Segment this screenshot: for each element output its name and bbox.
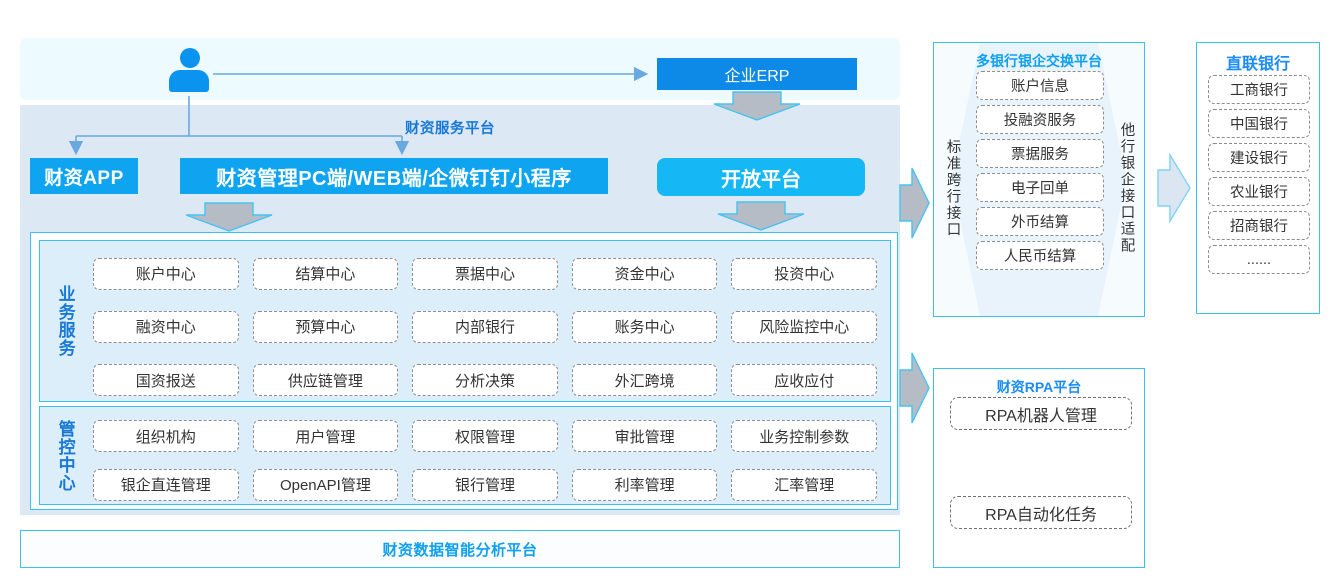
bank-chip[interactable]: 中国银行: [1208, 109, 1310, 138]
business-chip[interactable]: 资金中心: [572, 258, 718, 290]
management-center-grid: 组织机构 用户管理 权限管理 审批管理 业务控制参数 银企直连管理 OpenAP…: [86, 407, 884, 514]
right-arrow-icon-rpa: [900, 353, 929, 423]
business-chip[interactable]: 国资报送: [93, 364, 239, 396]
management-chip[interactable]: 用户管理: [253, 420, 399, 452]
bank-chip[interactable]: 农业银行: [1208, 177, 1310, 206]
exchange-platform-title: 多银行银企交换平台: [934, 51, 1144, 71]
business-services-grid: 账户中心 结算中心 票据中心 资金中心 投资中心 融资中心 预算中心 内部银行 …: [86, 241, 884, 413]
list-item[interactable]: 结算中心: [250, 247, 402, 300]
bank-exchange-platform-panel: 多银行银企交换平台 标准跨行接口 他行银企接口适配 账户信息 投融资服务 票据服…: [933, 42, 1145, 317]
direct-banks-list: 工商银行 中国银行 建设银行 农业银行 招商银行 ......: [1208, 75, 1310, 279]
list-item[interactable]: 分析决策: [409, 354, 561, 407]
right-arrow-icon-banks: [1158, 155, 1190, 221]
business-chip[interactable]: 预算中心: [253, 311, 399, 343]
business-chip[interactable]: 账户中心: [93, 258, 239, 290]
business-chip[interactable]: 票据中心: [412, 258, 558, 290]
services-card: 业务服务 账户中心 结算中心 票据中心 资金中心 投资中心 融资中心 预算中心 …: [30, 232, 898, 510]
list-item[interactable]: 汇率管理: [728, 461, 880, 510]
business-chip[interactable]: 投资中心: [731, 258, 877, 290]
list-item[interactable]: 权限管理: [409, 412, 561, 461]
business-chip[interactable]: 内部银行: [412, 311, 558, 343]
business-chip[interactable]: 账务中心: [572, 311, 718, 343]
user-icon: [168, 48, 210, 94]
exchange-chip[interactable]: 票据服务: [976, 139, 1104, 168]
bank-chip[interactable]: 招商银行: [1208, 211, 1310, 240]
list-item[interactable]: 预算中心: [250, 300, 402, 353]
management-center-section: 管控中心 组织机构 用户管理 权限管理 审批管理 业务控制参数 银企直连管理 O…: [39, 406, 891, 505]
business-services-label: 业务服务: [48, 241, 82, 401]
business-chip[interactable]: 结算中心: [253, 258, 399, 290]
management-chip[interactable]: 利率管理: [572, 469, 718, 501]
list-item[interactable]: 国资报送: [90, 354, 242, 407]
list-item[interactable]: 票据中心: [409, 247, 561, 300]
open-platform-box[interactable]: 开放平台: [657, 158, 865, 196]
list-item[interactable]: 账户中心: [90, 247, 242, 300]
direct-banks-panel: 直联银行 工商银行 中国银行 建设银行 农业银行 招商银行 ......: [1196, 42, 1320, 314]
platform-title: 财资服务平台: [405, 117, 495, 138]
list-item[interactable]: 组织机构: [90, 412, 242, 461]
list-item[interactable]: 供应链管理: [250, 354, 402, 407]
exchange-chip[interactable]: 人民币结算: [976, 241, 1104, 270]
management-chip[interactable]: 审批管理: [572, 420, 718, 452]
business-chip[interactable]: 风险监控中心: [731, 311, 877, 343]
business-chip[interactable]: 外汇跨境: [572, 364, 718, 396]
list-item[interactable]: 银行管理: [409, 461, 561, 510]
right-arrow-icon-exchange: [900, 168, 929, 238]
finance-app-box[interactable]: 财资APP: [30, 158, 138, 194]
list-item[interactable]: 账务中心: [569, 300, 721, 353]
exchange-service-list: 账户信息 投融资服务 票据服务 电子回单 外币结算 人民币结算: [976, 71, 1104, 275]
list-item[interactable]: 资金中心: [569, 247, 721, 300]
list-item[interactable]: 风险监控中心: [728, 300, 880, 353]
rpa-robot-management-chip[interactable]: RPA机器人管理: [950, 397, 1132, 430]
rpa-platform-panel: 财资RPA平台 RPA机器人管理 RPA自动化任务: [933, 368, 1145, 568]
list-item[interactable]: 银企直连管理: [90, 461, 242, 510]
exchange-chip[interactable]: 外币结算: [976, 207, 1104, 236]
list-item[interactable]: 应收应付: [728, 354, 880, 407]
management-chip[interactable]: 组织机构: [93, 420, 239, 452]
list-item[interactable]: 内部银行: [409, 300, 561, 353]
architecture-diagram: 企业ERP 财资服务平台 财资APP 财资管理PC端/WEB端/企微钉钉小程序 …: [0, 0, 1329, 580]
management-chip[interactable]: 银行管理: [412, 469, 558, 501]
analytics-platform-bar[interactable]: 财资数据智能分析平台: [20, 530, 900, 568]
management-chip[interactable]: 银企直连管理: [93, 469, 239, 501]
exchange-chip[interactable]: 电子回单: [976, 173, 1104, 202]
list-item[interactable]: 审批管理: [569, 412, 721, 461]
rpa-automation-task-chip[interactable]: RPA自动化任务: [950, 496, 1132, 529]
business-chip[interactable]: 应收应付: [731, 364, 877, 396]
direct-banks-title: 直联银行: [1197, 50, 1319, 74]
business-chip[interactable]: 融资中心: [93, 311, 239, 343]
list-item[interactable]: 外汇跨境: [569, 354, 721, 407]
rpa-platform-title: 财资RPA平台: [934, 377, 1144, 397]
list-item[interactable]: 用户管理: [250, 412, 402, 461]
management-chip[interactable]: OpenAPI管理: [253, 469, 399, 501]
business-chip[interactable]: 分析决策: [412, 364, 558, 396]
list-item[interactable]: 投资中心: [728, 247, 880, 300]
management-chip[interactable]: 权限管理: [412, 420, 558, 452]
list-item[interactable]: 业务控制参数: [728, 412, 880, 461]
other-bank-adapter-label: 他行银企接口适配: [1114, 69, 1140, 307]
list-item[interactable]: OpenAPI管理: [250, 461, 402, 510]
enterprise-erp-box[interactable]: 企业ERP: [657, 58, 857, 90]
exchange-chip[interactable]: 账户信息: [976, 71, 1104, 100]
standard-interface-label: 标准跨行接口: [940, 69, 966, 307]
list-item[interactable]: 融资中心: [90, 300, 242, 353]
list-item[interactable]: 利率管理: [569, 461, 721, 510]
exchange-chip[interactable]: 投融资服务: [976, 105, 1104, 134]
management-center-label: 管控中心: [48, 407, 82, 504]
bank-chip[interactable]: ......: [1208, 245, 1310, 274]
bank-chip[interactable]: 建设银行: [1208, 143, 1310, 172]
business-chip[interactable]: 供应链管理: [253, 364, 399, 396]
finance-pc-web-box[interactable]: 财资管理PC端/WEB端/企微钉钉小程序: [180, 158, 608, 194]
business-services-section: 业务服务 账户中心 结算中心 票据中心 资金中心 投资中心 融资中心 预算中心 …: [39, 240, 891, 402]
bank-chip[interactable]: 工商银行: [1208, 75, 1310, 104]
management-chip[interactable]: 汇率管理: [731, 469, 877, 501]
management-chip[interactable]: 业务控制参数: [731, 420, 877, 452]
